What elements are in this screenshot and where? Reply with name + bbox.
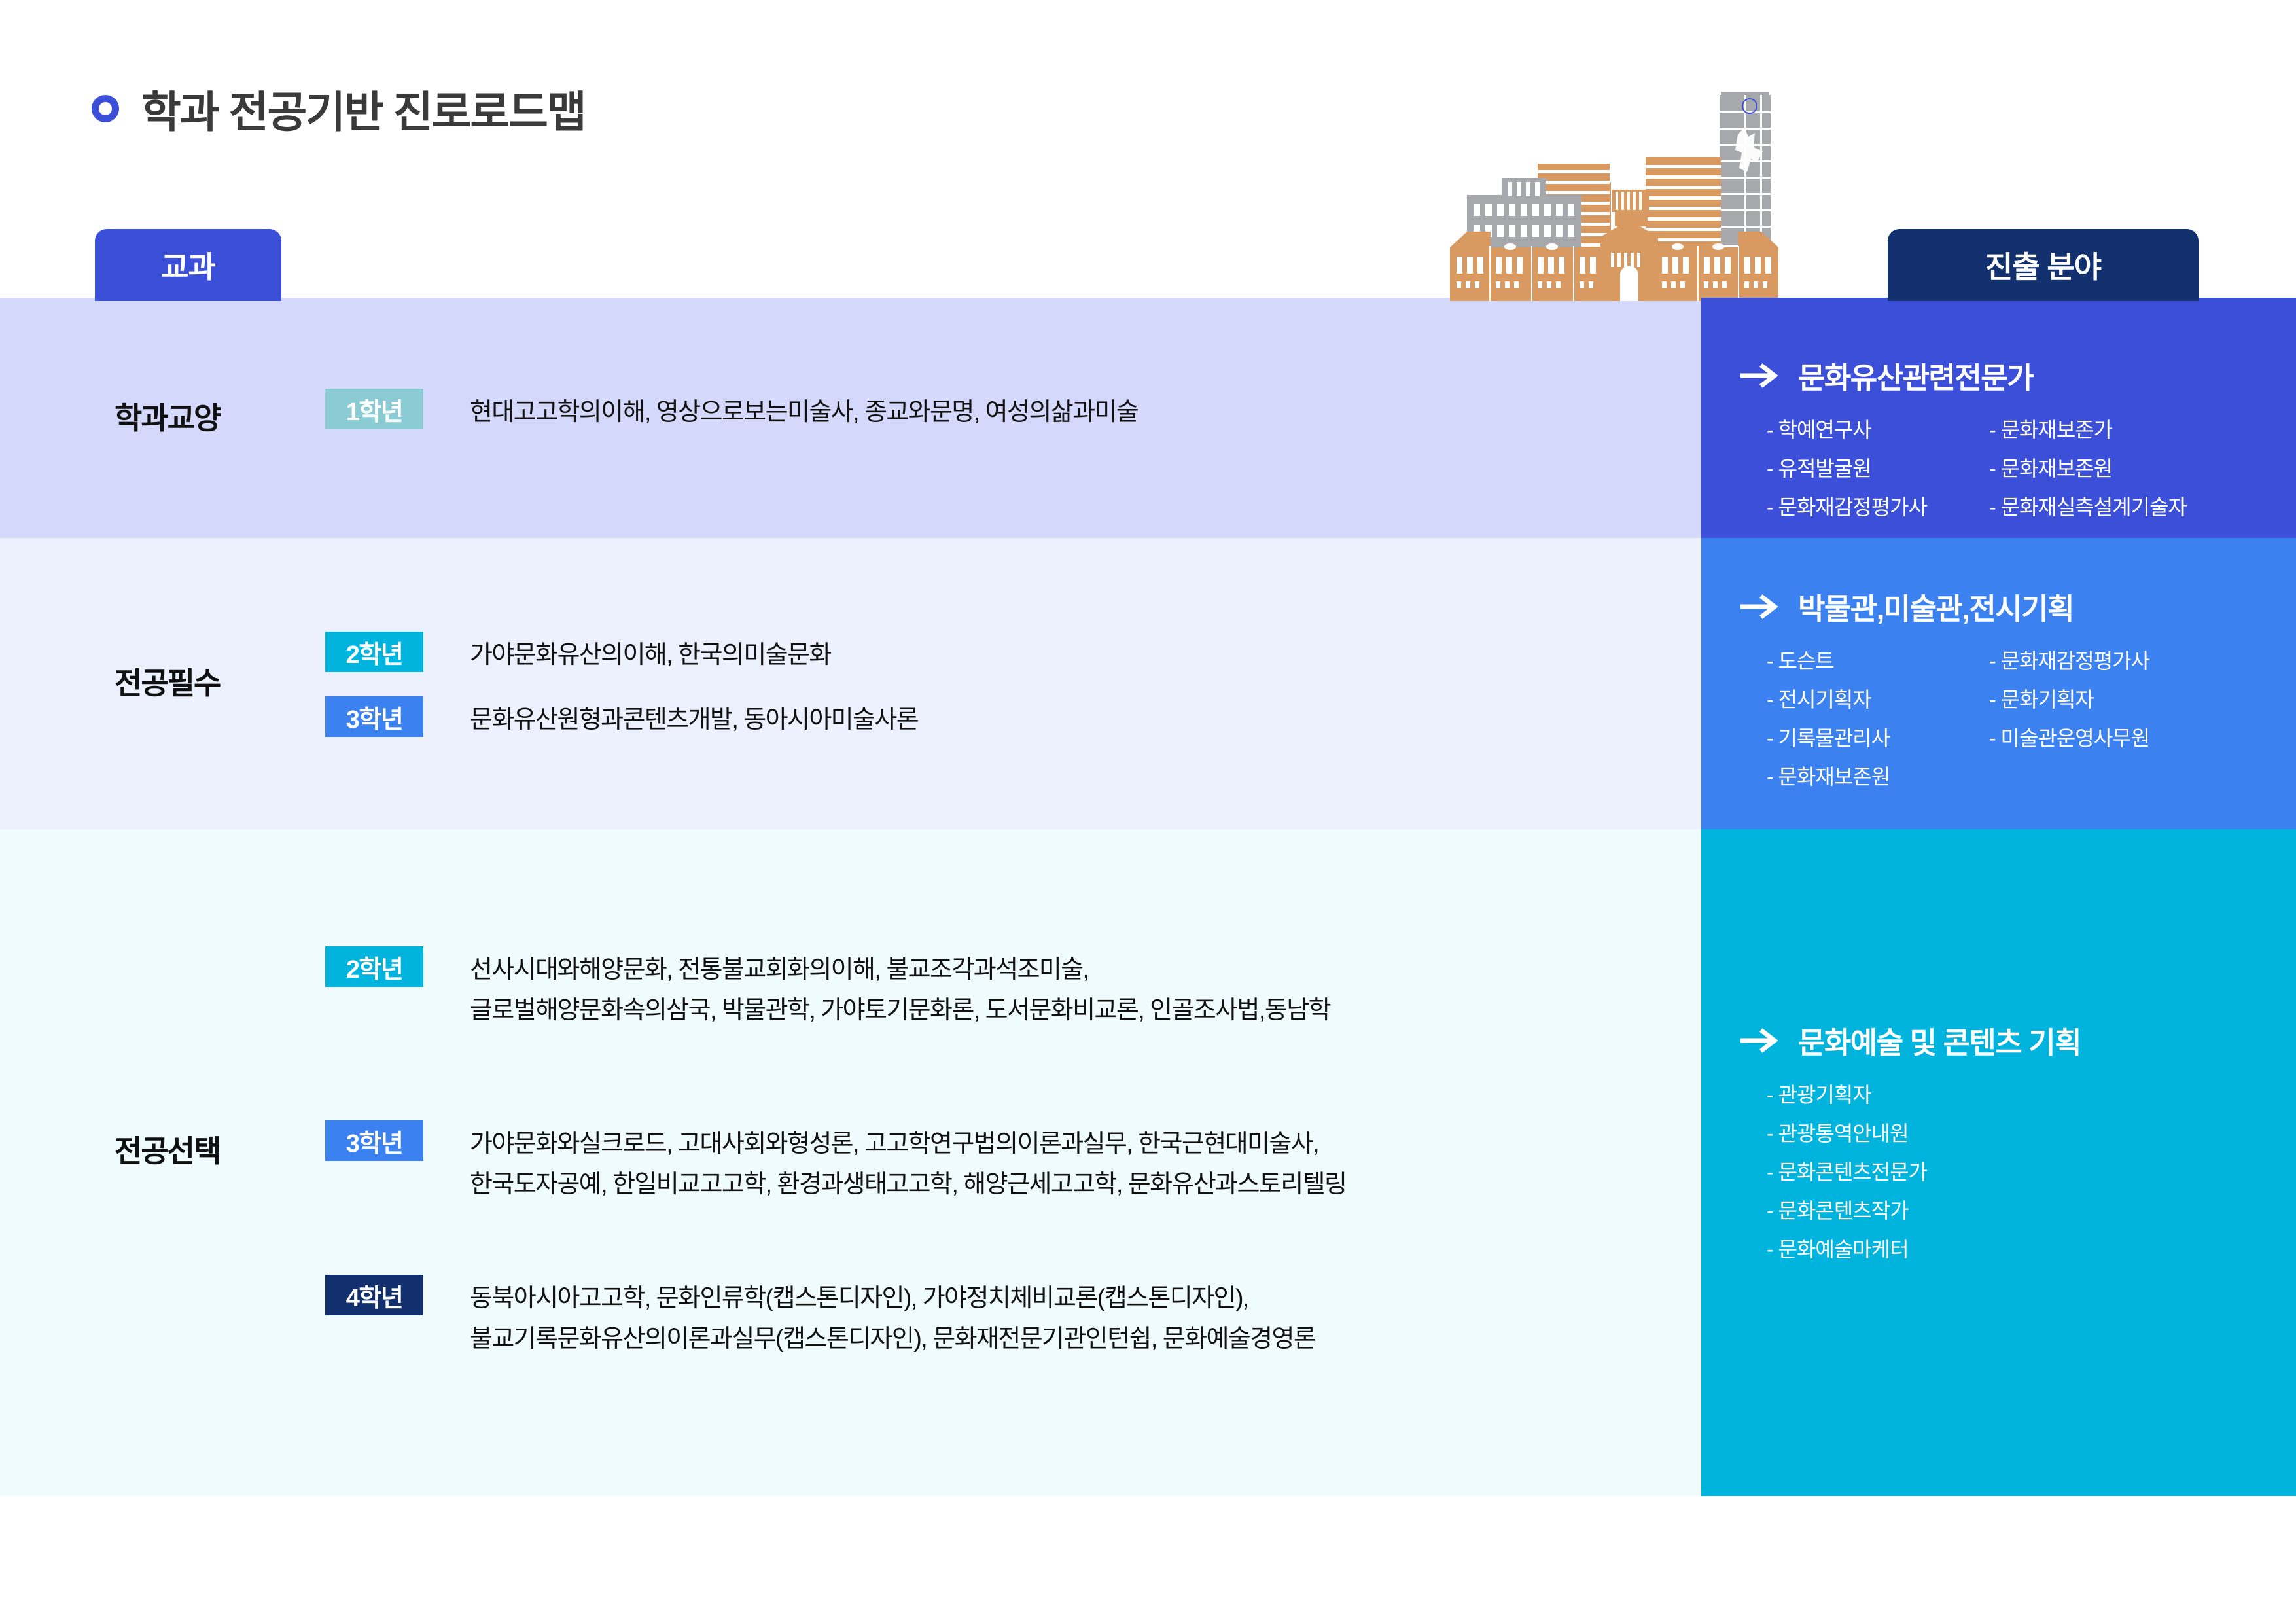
year-badge-3: 3학년 (325, 696, 423, 737)
course-list-major-required-y3: 문화유산원형과콘텐츠개발, 동아시아미술사론 (470, 700, 918, 741)
tab-career-fields-label: 진출 분야 (1985, 243, 2101, 287)
career-panel-1-jobs: - 학예연구사 - 문화재보존가 - 유적발굴원 - 문화재보존원 - 문화재감… (1740, 414, 2276, 521)
job-item: - 기록물관리사 (1767, 722, 1983, 752)
course-line: 가야문화유산의이해, 한국의미술문화 (470, 635, 831, 676)
career-panel-3-jobs: - 관광기획자 - 관광통역안내원 - 문화콘텐츠전문가 - 문화콘텐츠작가 -… (1740, 1079, 2276, 1263)
job-item: - 유적발굴원 (1767, 452, 1983, 482)
job-item: - 문화재감정평가사 (1989, 645, 2276, 675)
job-item: - 전시기획자 (1767, 683, 1983, 713)
job-item: - 관광기획자 (1767, 1079, 2276, 1109)
category-label-major-required: 전공필수 (115, 660, 220, 703)
course-list-major-elective-y3: 가야문화와실크로드, 고대사회와형성론, 고고학연구법의이론과실무, 한국근현대… (470, 1124, 1346, 1205)
course-line: 가야문화와실크로드, 고대사회와형성론, 고고학연구법의이론과실무, 한국근현대… (470, 1124, 1346, 1165)
job-item-empty (1989, 760, 2276, 791)
page-title: 학과 전공기반 진로로드맵 (92, 77, 586, 140)
course-line: 문화유산원형과콘텐츠개발, 동아시아미술사론 (470, 700, 918, 741)
job-item: - 문화재보존원 (1989, 452, 2276, 482)
page-title-text: 학과 전공기반 진로로드맵 (141, 77, 586, 140)
course-list-liberal-arts-y1: 현대고고학의이해, 영상으로보는미술사, 종교와문명, 여성의삶과미술 (470, 393, 1138, 433)
arrow-right-icon (1740, 1027, 1781, 1054)
job-item: - 관광통역안내원 (1767, 1117, 2276, 1147)
career-panel-2-header: 박물관,미술관,전시기획 (1740, 585, 2276, 628)
year-badge-1: 1학년 (325, 389, 423, 429)
career-panel-2-title: 박물관,미술관,전시기획 (1798, 585, 2074, 628)
tab-curriculum[interactable]: 교과 (95, 229, 281, 301)
job-item: - 문화예술마케터 (1767, 1233, 2276, 1263)
career-panel-1: 문화유산관련전문가 - 학예연구사 - 문화재보존가 - 유적발굴원 - 문화재… (1701, 298, 2296, 538)
arrow-right-icon (1740, 594, 1781, 620)
career-panel-3-title: 문화예술 및 콘텐츠 기획 (1798, 1019, 2081, 1061)
job-item: - 미술관운영사무원 (1989, 722, 2276, 752)
job-item: - 문화재실측설계기술자 (1989, 491, 2276, 521)
job-item: - 학예연구사 (1767, 414, 1983, 444)
career-panel-2-jobs: - 도슨트 - 문화재감정평가사 - 전시기획자 - 문화기획자 - 기록물관리… (1740, 645, 2276, 791)
job-item: - 문화재감정평가사 (1767, 491, 1983, 521)
course-line: 동북아시아고고학, 문화인류학(캡스톤디자인), 가야정치체비교론(캡스톤디자인… (470, 1279, 1315, 1319)
tab-career-fields[interactable]: 진출 분야 (1888, 229, 2199, 301)
career-panel-1-title: 문화유산관련전문가 (1798, 354, 2033, 397)
category-label-liberal-arts: 학과교양 (115, 395, 220, 438)
career-panel-3: 문화예술 및 콘텐츠 기획 - 관광기획자 - 관광통역안내원 - 문화콘텐츠전… (1701, 829, 2296, 1496)
year-badge-2: 2학년 (325, 632, 423, 672)
job-item: - 도슨트 (1767, 645, 1983, 675)
category-label-major-elective: 전공선택 (115, 1128, 220, 1171)
course-line: 글로벌해양문화속의삼국, 박물관학, 가야토기문화론, 도서문화비교론, 인골조… (470, 991, 1330, 1031)
job-item: - 문화재보존가 (1989, 414, 2276, 444)
career-panel-3-header: 문화예술 및 콘텐츠 기획 (1740, 1019, 2276, 1061)
course-list-major-elective-y2: 선사시대와해양문화, 전통불교회화의이해, 불교조각과석조미술, 글로벌해양문화… (470, 950, 1330, 1031)
year-badge-elective-2: 2학년 (325, 946, 423, 987)
course-list-major-required-y2: 가야문화유산의이해, 한국의미술문화 (470, 635, 831, 676)
band-major-required (0, 538, 1701, 829)
ring-bullet-icon (92, 95, 119, 122)
tab-curriculum-label: 교과 (161, 243, 215, 287)
job-item: - 문화콘텐츠전문가 (1767, 1156, 2276, 1186)
campus-skyline-illustration (1426, 65, 1819, 301)
career-panel-1-header: 문화유산관련전문가 (1740, 354, 2276, 397)
career-panel-2: 박물관,미술관,전시기획 - 도슨트 - 문화재감정평가사 - 전시기획자 - … (1701, 538, 2296, 829)
year-badge-elective-3: 3학년 (325, 1120, 423, 1161)
job-item: - 문화콘텐츠작가 (1767, 1194, 2276, 1224)
arrow-right-icon (1740, 363, 1781, 389)
job-item: - 문화기획자 (1989, 683, 2276, 713)
course-list-major-elective-y4: 동북아시아고고학, 문화인류학(캡스톤디자인), 가야정치체비교론(캡스톤디자인… (470, 1279, 1315, 1359)
course-line: 한국도자공예, 한일비교고고학, 환경과생태고고학, 해양근세고고학, 문화유산… (470, 1165, 1346, 1205)
course-line: 현대고고학의이해, 영상으로보는미술사, 종교와문명, 여성의삶과미술 (470, 393, 1138, 433)
job-item: - 문화재보존원 (1767, 760, 1983, 791)
year-badge-elective-4: 4학년 (325, 1275, 423, 1315)
course-line: 불교기록문화유산의이론과실무(캡스톤디자인), 문화재전문기관인턴쉽, 문화예술… (470, 1319, 1315, 1360)
course-line: 선사시대와해양문화, 전통불교회화의이해, 불교조각과석조미술, (470, 950, 1330, 991)
